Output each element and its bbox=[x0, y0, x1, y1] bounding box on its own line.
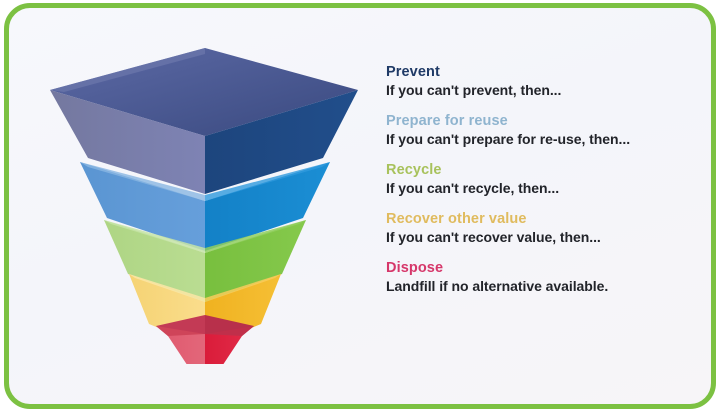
inverted-pyramid-graphic bbox=[28, 34, 378, 364]
legend-list: Prevent If you can't prevent, then... Pr… bbox=[386, 64, 686, 308]
legend-desc-recycle: If you can't recycle, then... bbox=[386, 180, 686, 197]
legend-entry-dispose: Dispose Landfill if no alternative avail… bbox=[386, 260, 686, 295]
legend-title-recover-other-value: Recover other value bbox=[386, 211, 686, 228]
legend-title-prevent: Prevent bbox=[386, 64, 686, 81]
legend-desc-prevent: If you can't prevent, then... bbox=[386, 82, 686, 99]
diagram-inner: Prevent If you can't prevent, then... Pr… bbox=[0, 0, 722, 415]
diagram-canvas: Prevent If you can't prevent, then... Pr… bbox=[0, 0, 722, 415]
dispose-left-face bbox=[168, 334, 205, 364]
legend-entry-recover-other-value: Recover other value If you can't recover… bbox=[386, 211, 686, 246]
legend-title-prepare-for-reuse: Prepare for reuse bbox=[386, 113, 686, 130]
legend-title-dispose: Dispose bbox=[386, 260, 686, 277]
legend-entry-prevent: Prevent If you can't prevent, then... bbox=[386, 64, 686, 99]
legend-entry-prepare-for-reuse: Prepare for reuse If you can't prepare f… bbox=[386, 113, 686, 148]
legend-desc-prepare-for-reuse: If you can't prepare for re-use, then... bbox=[386, 131, 686, 148]
legend-title-recycle: Recycle bbox=[386, 162, 686, 179]
legend-entry-recycle: Recycle If you can't recycle, then... bbox=[386, 162, 686, 197]
legend-desc-recover-other-value: If you can't recover value, then... bbox=[386, 229, 686, 246]
dispose-right-face bbox=[205, 334, 242, 364]
legend-desc-dispose: Landfill if no alternative available. bbox=[386, 278, 686, 295]
